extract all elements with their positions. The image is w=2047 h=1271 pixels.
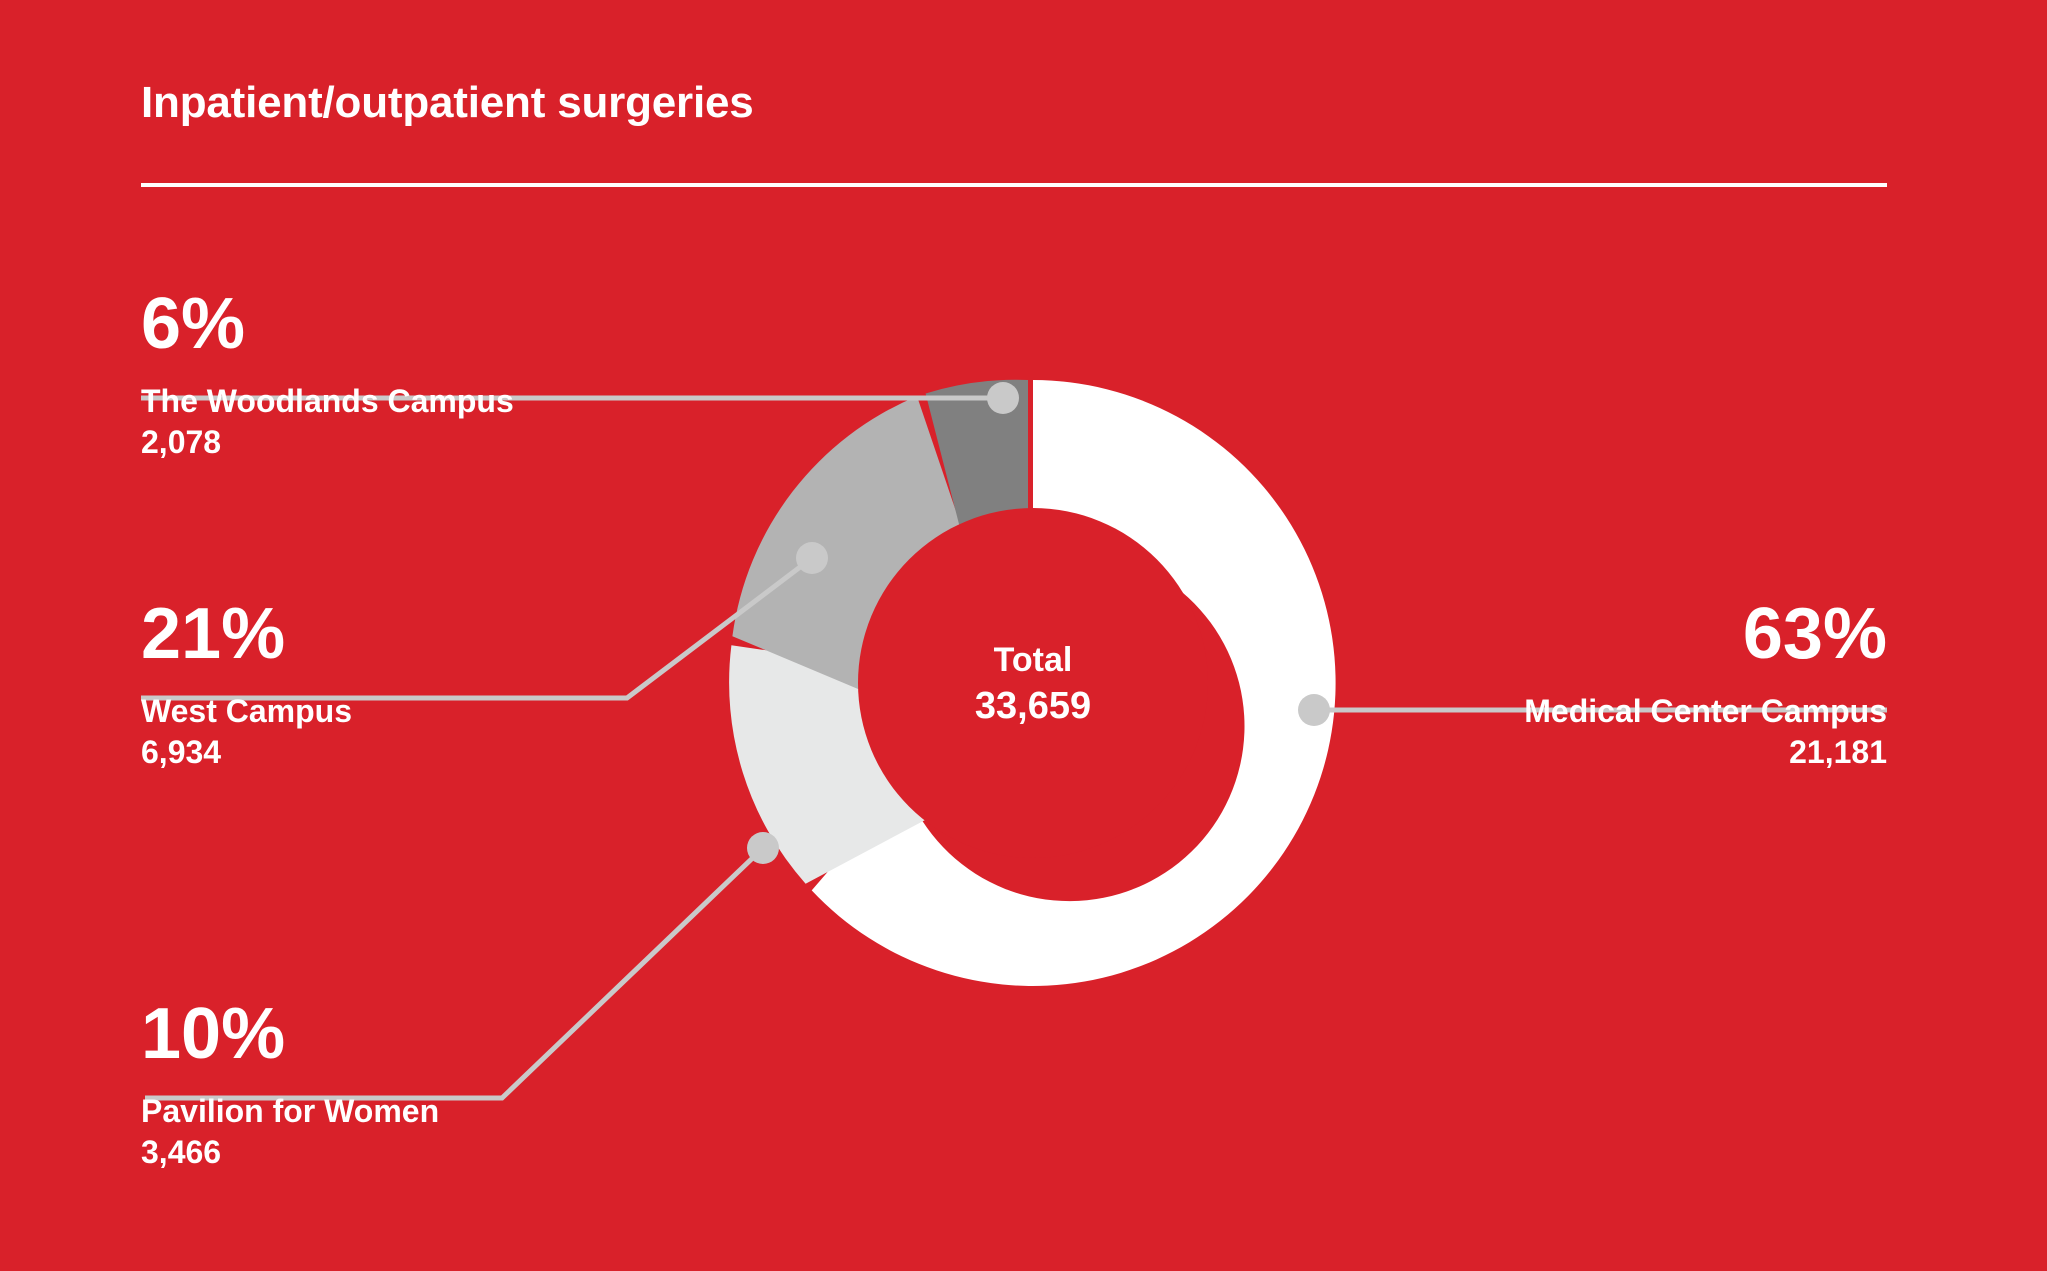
callout-name-pavilion-for-women: Pavilion for Women <box>141 1091 571 1132</box>
callout-the-woodlands-campus: 6% The Woodlands Campus 2,078 <box>141 288 571 463</box>
callout-name-west-campus: West Campus <box>141 691 571 732</box>
callout-name-medical-center-campus: Medical Center Campus <box>1180 691 1887 732</box>
callout-value-west-campus: 6,934 <box>141 732 571 773</box>
infographic-slide: Inpatient/outpatient surgeries <box>0 0 2047 1271</box>
donut-hole <box>858 508 1208 858</box>
callout-name-the-woodlands-campus: The Woodlands Campus <box>141 381 571 422</box>
callout-medical-center-campus: 63% Medical Center Campus 21,181 <box>1180 598 1887 773</box>
callout-west-campus: 21% West Campus 6,934 <box>141 598 571 773</box>
callout-percent-the-woodlands-campus: 6% <box>141 288 571 360</box>
leader-dot-the-woodlands-campus <box>987 382 1019 414</box>
callout-pavilion-for-women: 10% Pavilion for Women 3,466 <box>141 998 571 1173</box>
callout-percent-west-campus: 21% <box>141 598 571 670</box>
callout-value-the-woodlands-campus: 2,078 <box>141 422 571 463</box>
callout-value-medical-center-campus: 21,181 <box>1180 732 1887 773</box>
leader-dot-west-campus <box>796 542 828 574</box>
callout-percent-pavilion-for-women: 10% <box>141 998 571 1070</box>
callout-percent-medical-center-campus: 63% <box>1180 598 1887 670</box>
callout-value-pavilion-for-women: 3,466 <box>141 1132 571 1173</box>
leader-dot-pavilion-for-women <box>747 832 779 864</box>
